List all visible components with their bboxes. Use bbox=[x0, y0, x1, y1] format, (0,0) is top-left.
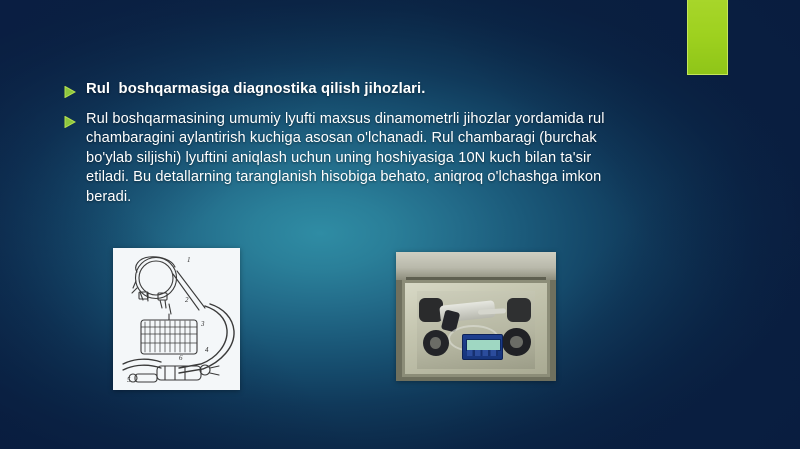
svg-text:6: 6 bbox=[179, 354, 183, 362]
tool-disc-left bbox=[423, 330, 449, 357]
bullet-item-body: Rul boshqarmasining umumiy lyufti maxsus… bbox=[64, 110, 634, 208]
meter-display-screen bbox=[466, 339, 501, 351]
steering-linkage-line-drawing: 1 2 3 4 5 6 bbox=[113, 248, 240, 390]
bullet-text-title: Rul boshqarmasiga diagnostika qilish jih… bbox=[86, 80, 634, 100]
meter-keypad bbox=[467, 350, 498, 356]
green-triangle-bullet-icon bbox=[64, 110, 86, 128]
bullet-text-body: Rul boshqarmasining umumiy lyufti maxsus… bbox=[86, 110, 634, 208]
case-foam-insert bbox=[417, 291, 536, 369]
digital-meter-device bbox=[462, 334, 503, 359]
svg-text:3: 3 bbox=[200, 320, 205, 328]
presentation-slide: Rul boshqarmasiga diagnostika qilish jih… bbox=[0, 0, 800, 449]
green-triangle-bullet-icon bbox=[64, 80, 86, 98]
svg-text:5: 5 bbox=[127, 376, 131, 384]
green-accent-bar bbox=[687, 0, 728, 75]
svg-text:4: 4 bbox=[205, 346, 209, 354]
svg-text:1: 1 bbox=[187, 256, 191, 264]
diagnostic-toolkit-photo bbox=[396, 252, 556, 381]
svg-text:2: 2 bbox=[185, 296, 189, 304]
slide-content: Rul boshqarmasiga diagnostika qilish jih… bbox=[64, 80, 634, 207]
case-body bbox=[402, 280, 549, 377]
bullet-item-title: Rul boshqarmasiga diagnostika qilish jih… bbox=[64, 80, 634, 100]
tool-disc-right bbox=[502, 328, 530, 356]
tool-dark-box-right bbox=[507, 298, 531, 321]
